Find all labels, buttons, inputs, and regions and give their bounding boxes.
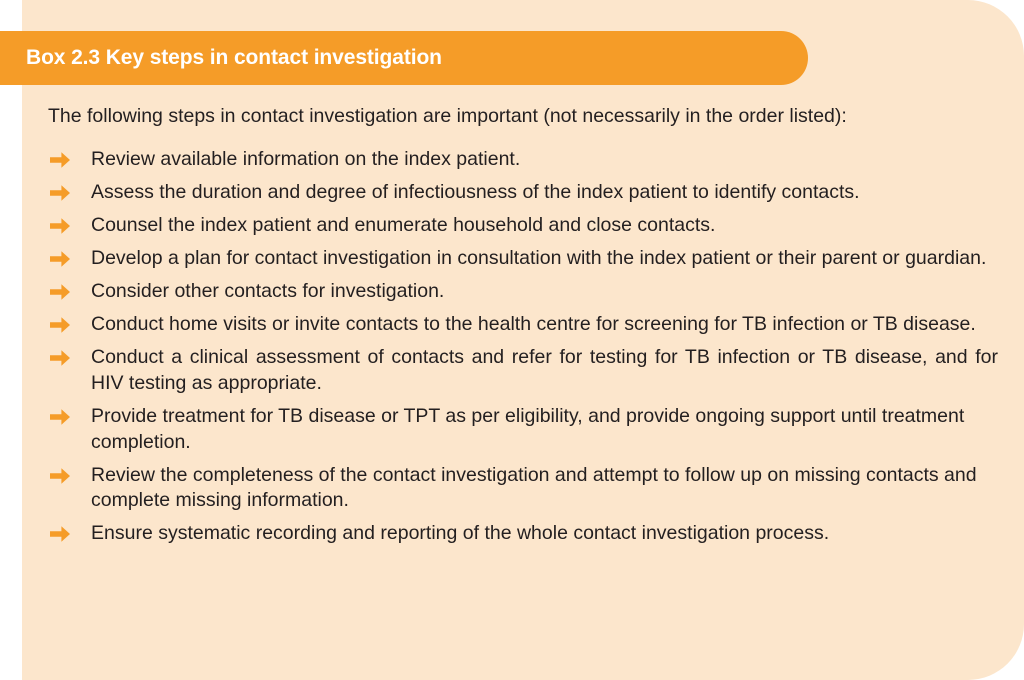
list-item: Ensure systematic recording and reportin…	[48, 521, 998, 547]
list-item-label: Develop a plan for contact investigation…	[91, 246, 998, 272]
list-item-label: Consider other contacts for investigatio…	[91, 280, 444, 302]
arrow-right-icon	[48, 523, 72, 545]
box-content: The following steps in contact investiga…	[48, 104, 998, 554]
box-title: Box 2.3 Key steps in contact investigati…	[0, 46, 442, 70]
list-item: Assess the duration and degree of infect…	[48, 180, 998, 206]
arrow-right-icon	[48, 215, 72, 237]
list-item: Consider other contacts for investigatio…	[48, 279, 998, 305]
arrow-right-icon	[48, 248, 72, 270]
list-item: Conduct a clinical assessment of contact…	[48, 345, 998, 397]
arrow-right-icon	[48, 406, 72, 428]
arrow-right-icon	[48, 182, 72, 204]
list-item-label: Conduct a clinical assessment of contact…	[91, 345, 998, 397]
list-item: Review available information on the inde…	[48, 147, 998, 173]
arrow-right-icon	[48, 149, 72, 171]
list-item-label: Assess the duration and degree of infect…	[91, 181, 860, 203]
list-item: Review the completeness of the contact i…	[48, 463, 998, 515]
list-item: Conduct home visits or invite contacts t…	[48, 312, 998, 338]
list-item-label: Ensure systematic recording and reportin…	[91, 522, 829, 544]
list-item: Counsel the index patient and enumerate …	[48, 213, 998, 239]
box-header-bar: Box 2.3 Key steps in contact investigati…	[0, 31, 808, 85]
key-steps-list: Review available information on the inde…	[48, 147, 998, 547]
list-item: Develop a plan for contact investigation…	[48, 246, 998, 272]
list-item-label: Conduct home visits or invite contacts t…	[91, 313, 976, 335]
arrow-right-icon	[48, 314, 72, 336]
list-item-label: Review available information on the inde…	[91, 148, 520, 170]
arrow-right-icon	[48, 347, 72, 369]
arrow-right-icon	[48, 281, 72, 303]
box-figure: Box 2.3 Key steps in contact investigati…	[0, 0, 1024, 680]
list-item-label: Review the completeness of the contact i…	[91, 464, 977, 512]
box-intro-text: The following steps in contact investiga…	[48, 104, 998, 129]
list-item: Provide treatment for TB disease or TPT …	[48, 404, 998, 456]
list-item-label: Provide treatment for TB disease or TPT …	[91, 405, 964, 453]
arrow-right-icon	[48, 465, 72, 487]
list-item-label: Counsel the index patient and enumerate …	[91, 214, 715, 236]
